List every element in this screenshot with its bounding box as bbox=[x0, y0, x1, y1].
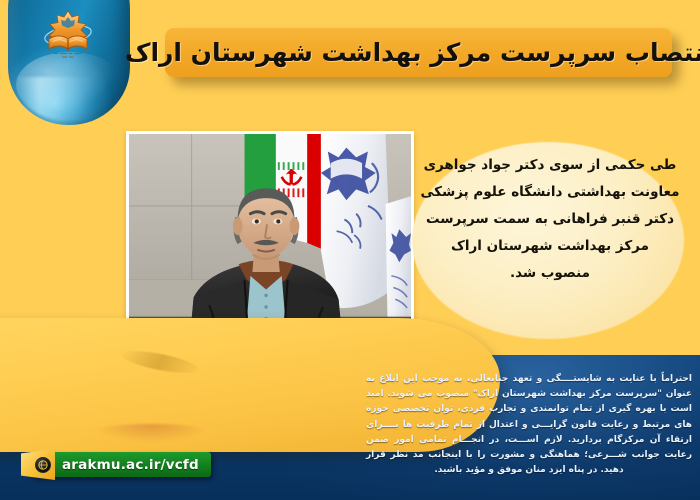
title-banner: انتصاب سرپرست مرکز بهداشت شهرستان اراک bbox=[165, 28, 672, 77]
website-url-text: arakmu.ac.ir/vcfd bbox=[62, 457, 199, 473]
body-line-3: دکتر قنبر فراهانی به سمت سرپرست bbox=[416, 206, 684, 233]
body-line-5: منصوب شد. bbox=[416, 260, 684, 287]
portrait-photo bbox=[126, 131, 414, 344]
page-title: انتصاب سرپرست مرکز بهداشت شهرستان اراک bbox=[125, 38, 700, 67]
body-line-4: مرکز بهداشت شهرستان اراک bbox=[416, 233, 684, 260]
poster-canvas: انتصاب سرپرست مرکز بهداشت شهرستان اراک bbox=[0, 0, 700, 500]
letter-body-text: احتراماً با عنایت به شایستــــگی و تعهد … bbox=[366, 372, 692, 478]
globe-link-icon bbox=[35, 457, 51, 473]
body-line-2: معاونت بهداشتی دانشگاه علوم پزشکی bbox=[416, 179, 684, 206]
arak-university-star-book-logo-icon bbox=[40, 9, 96, 61]
body-line-1: طی حکمی از سوی دکتر جواد جواهری bbox=[416, 152, 684, 179]
body-text: طی حکمی از سوی دکتر جواد جواهری معاونت ب… bbox=[416, 152, 684, 287]
blob-tail-shadow bbox=[92, 424, 210, 442]
website-url-ribbon[interactable]: arakmu.ac.ir/vcfd bbox=[30, 452, 211, 477]
